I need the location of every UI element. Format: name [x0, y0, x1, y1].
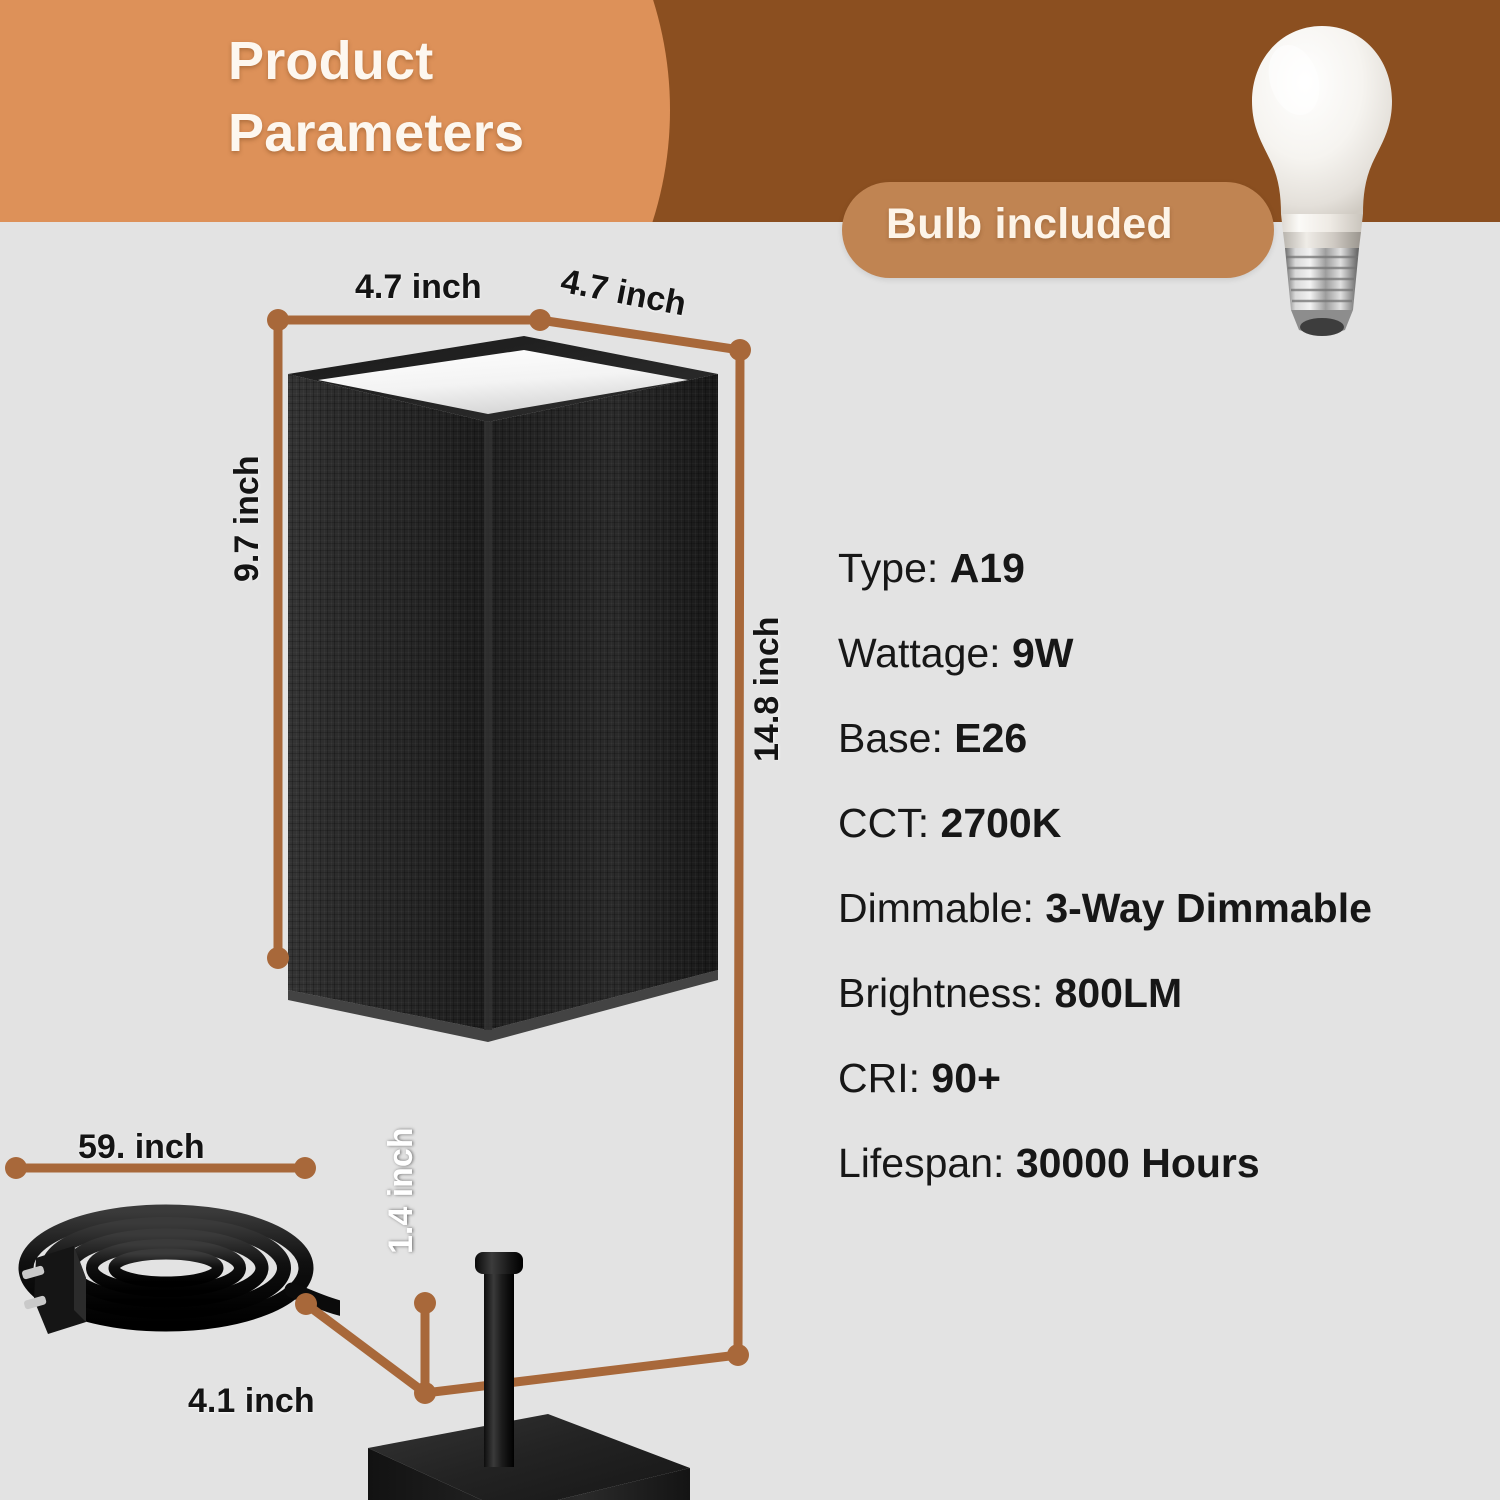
spec-row-brightness: Brightness: 800LM [838, 973, 1498, 1014]
product-parameters-infographic: Product Parameters Bulb included [0, 0, 1500, 1500]
lamp-shade [282, 330, 724, 1065]
spec-row-type: Type: A19 [838, 548, 1498, 589]
lamp-product-image [0, 222, 840, 1500]
spec-label: Type: [838, 545, 938, 591]
page-title-line2: Parameters [228, 98, 748, 170]
spec-value: A19 [950, 545, 1025, 591]
dim-label-shade-height: 9.7 inch [228, 455, 267, 582]
dim-label-shade-top-width: 4.7 inch [355, 268, 482, 307]
page-title: Product Parameters [228, 26, 748, 170]
spec-row-dimmable: Dimmable: 3-Way Dimmable [838, 888, 1498, 929]
spec-list: Type: A19 Wattage: 9W Base: E26 CCT: 270… [838, 548, 1498, 1228]
spec-label: Lifespan: [838, 1140, 1004, 1186]
lamp-stem [484, 1252, 514, 1467]
spec-label: Brightness: [838, 970, 1043, 1016]
page-title-line1: Product [228, 26, 748, 98]
spec-value: 30000 Hours [1016, 1140, 1260, 1186]
spec-value: 3-Way Dimmable [1045, 885, 1372, 931]
spec-label: CCT: [838, 800, 929, 846]
spec-row-wattage: Wattage: 9W [838, 633, 1498, 674]
spec-row-cri: CRI: 90+ [838, 1058, 1498, 1099]
spec-row-cct: CCT: 2700K [838, 803, 1498, 844]
spec-value: 800LM [1055, 970, 1183, 1016]
spec-value: 9W [1012, 630, 1074, 676]
spec-value: 2700K [941, 800, 1062, 846]
power-cord [0, 1162, 340, 1382]
bulb-included-label: Bulb included [886, 200, 1173, 249]
lamp-stem-collar [475, 1252, 523, 1274]
spec-label: CRI: [838, 1055, 920, 1101]
spec-row-base: Base: E26 [838, 718, 1498, 759]
spec-label: Wattage: [838, 630, 1001, 676]
spec-value: E26 [954, 715, 1027, 761]
dim-label-base-depth: 4.1 inch [188, 1382, 315, 1421]
light-bulb-icon [1232, 18, 1412, 338]
dim-label-cord-length: 59. inch [78, 1128, 205, 1167]
spec-row-lifespan: Lifespan: 30000 Hours [838, 1143, 1498, 1184]
dim-label-total-height: 14.8 inch [748, 616, 787, 762]
dim-label-base-height: 1.4 inch [382, 1127, 421, 1254]
spec-label: Base: [838, 715, 943, 761]
spec-value: 90+ [931, 1055, 1001, 1101]
spec-label: Dimmable: [838, 885, 1034, 931]
